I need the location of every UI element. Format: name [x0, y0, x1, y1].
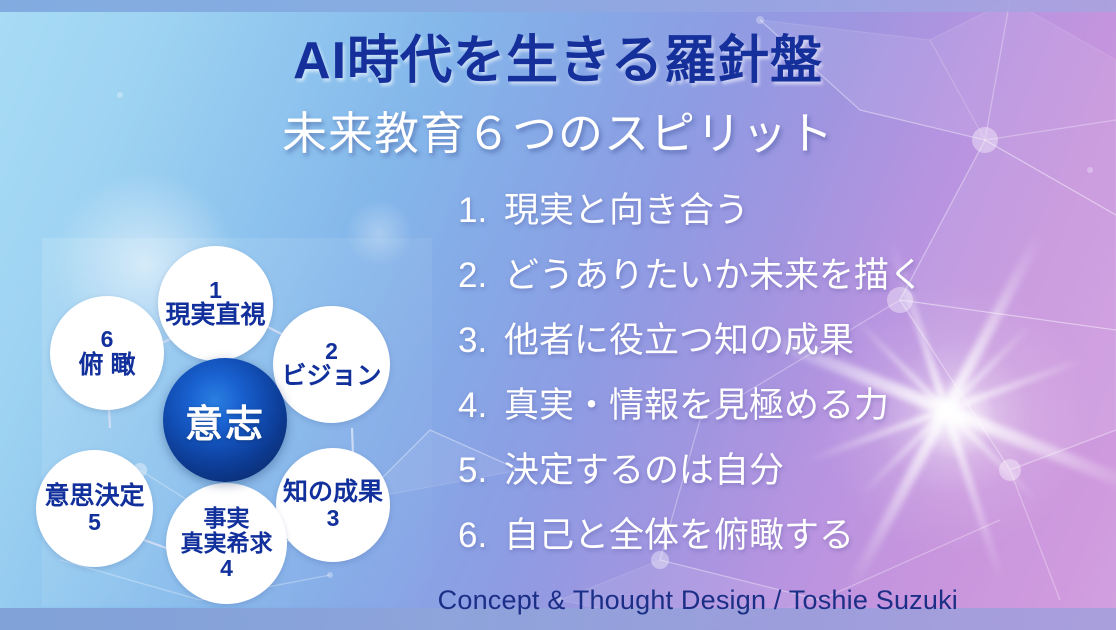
credit-text: Concept & Thought Design / Toshie Suzuki: [438, 585, 958, 616]
diagram-node-3-label: 知の成果: [283, 479, 383, 506]
list-item-text: 真実・情報を見極める力: [504, 386, 889, 425]
list-item[interactable]: 3.他者に役立つ知の成果: [458, 308, 1078, 373]
list-item-number: 3.: [458, 308, 504, 373]
diagram-node-2[interactable]: 2 ビジョン: [273, 306, 390, 423]
diagram-node-1-label: 現実直視: [165, 302, 265, 329]
diagram-node-1-number: 1: [209, 278, 222, 303]
diagram-node-4-number: 4: [220, 556, 233, 581]
diagram-node-3-number: 3: [327, 506, 340, 531]
list-item[interactable]: 2.どうありたいか未来を描く: [458, 243, 1078, 308]
list-item[interactable]: 5.決定するのは自分: [458, 438, 1078, 503]
diagram-node-4-label-line2: 真実希求: [181, 531, 273, 556]
page-subtitle: 未来教育６つのスピリット: [0, 97, 1116, 162]
list-item-number: 1.: [458, 178, 504, 243]
spirit-list: 1.現実と向き合う 2.どうありたいか未来を描く 3.他者に役立つ知の成果 4.…: [458, 178, 1078, 568]
diagram-node-5-label: 意思決定: [44, 483, 144, 510]
list-item-text: 他者に役立つ知の成果: [504, 321, 854, 360]
diagram-node-6[interactable]: 6 俯 瞰: [50, 296, 164, 410]
diagram-node-2-label: ビジョン: [281, 363, 381, 390]
list-item-number: 4.: [458, 373, 504, 438]
list-item[interactable]: 6.自己と全体を俯瞰する: [458, 503, 1078, 568]
diagram-node-6-label: 俯 瞰: [79, 352, 136, 379]
diagram-node-5[interactable]: 意思決定 5: [36, 450, 153, 567]
diagram-core-label: 意志: [185, 393, 265, 448]
diagram-node-2-number: 2: [325, 339, 338, 364]
spirit-circle-diagram: 1 現実直視 2 ビジョン 知の成果 3 事実 真実希求 4 意思決定 5 6 …: [18, 228, 458, 628]
list-item-text: 現実と向き合う: [504, 191, 749, 230]
diagram-node-5-number: 5: [88, 510, 101, 535]
diagram-node-6-number: 6: [101, 327, 114, 352]
top-accent-band: [0, 0, 1116, 12]
list-item-text: 決定するのは自分: [504, 451, 784, 490]
list-item[interactable]: 1.現実と向き合う: [458, 178, 1078, 243]
list-item-number: 2.: [458, 243, 504, 308]
slide-canvas: AI時代を生きる羅針盤 未来教育６つのスピリット 1 現実直視 2 ビジョン: [0, 0, 1116, 630]
diagram-core-node[interactable]: 意志: [163, 358, 287, 482]
page-title: AI時代を生きる羅針盤: [0, 18, 1116, 93]
diagram-node-3[interactable]: 知の成果 3: [276, 448, 390, 562]
list-item-number: 5.: [458, 438, 504, 503]
list-item-text: どうありたいか未来を描く: [504, 256, 924, 295]
list-item-text: 自己と全体を俯瞰する: [504, 516, 854, 555]
list-item[interactable]: 4.真実・情報を見極める力: [458, 373, 1078, 438]
diagram-node-4[interactable]: 事実 真実希求 4: [166, 483, 287, 604]
diagram-node-1[interactable]: 1 現実直視: [158, 246, 273, 361]
diagram-node-4-label-line1: 事実: [204, 506, 250, 531]
list-item-number: 6.: [458, 503, 504, 568]
